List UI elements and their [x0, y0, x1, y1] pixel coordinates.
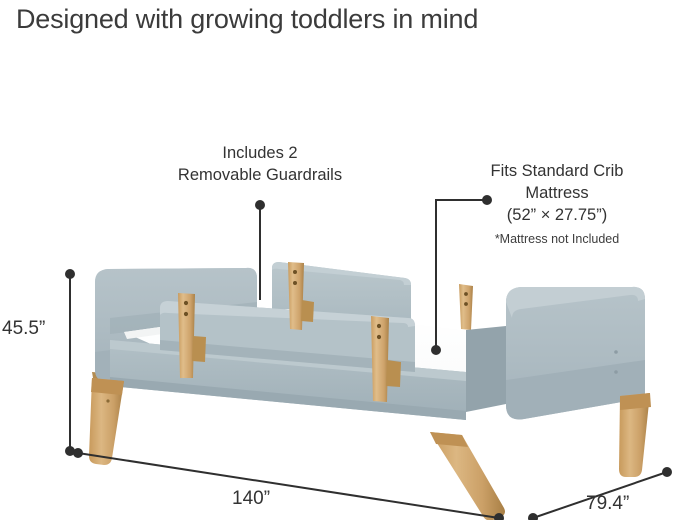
- callout-mattress-line3: (52” × 27.75”): [507, 206, 607, 224]
- toddler-bed-illustration: [0, 0, 679, 520]
- callout-guardrails-line1: Includes 2: [222, 144, 297, 162]
- callout-mattress-note: *Mattress not Included: [452, 230, 662, 248]
- callout-mattress-line1: Fits Standard Crib: [491, 162, 624, 180]
- dimension-label-length: 140”: [232, 487, 270, 511]
- infographic-canvas: Designed with growing toddlers in mind: [0, 0, 679, 520]
- dimension-label-depth: 79.4”: [586, 492, 629, 516]
- callout-guardrails: Includes 2 Removable Guardrails: [130, 142, 390, 186]
- guardrail-post: [459, 284, 473, 330]
- footboard-panel: [466, 287, 645, 420]
- callout-mattress: Fits Standard Crib Mattress (52” × 27.75…: [452, 160, 662, 248]
- callout-guardrails-line2: Removable Guardrails: [178, 166, 342, 184]
- dimension-label-height: 45.5”: [2, 317, 45, 341]
- leg-back-right: [619, 393, 651, 477]
- callout-mattress-line2: Mattress: [525, 184, 588, 202]
- leg-front-left: [89, 378, 124, 465]
- leg-front-right: [430, 432, 505, 520]
